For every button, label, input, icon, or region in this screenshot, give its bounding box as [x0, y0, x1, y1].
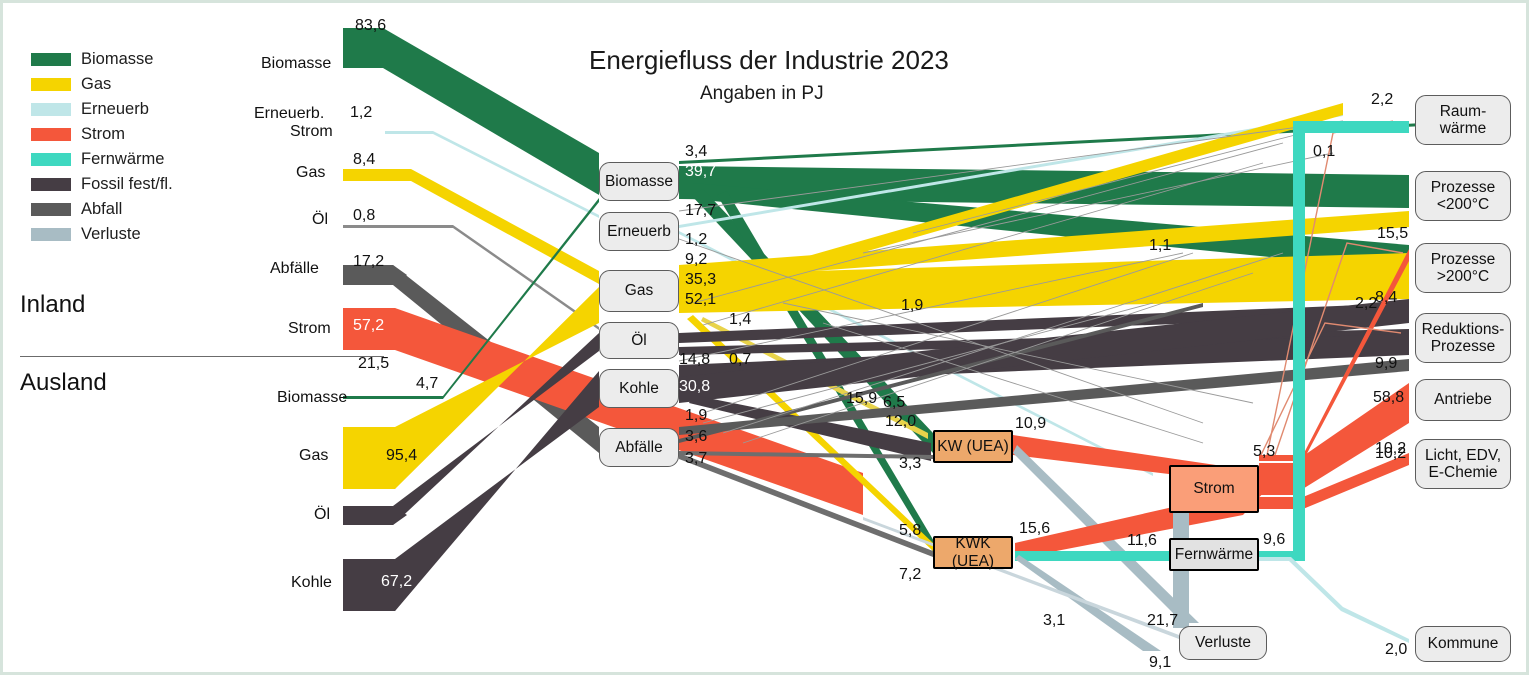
source-label-abfaelle: Abfälle	[270, 260, 319, 278]
legend-label-biomasse: Biomasse	[81, 50, 153, 69]
value-verluste-21-7: 21,7	[1147, 612, 1178, 630]
value-abfaelle-out-1: 1,9	[685, 407, 707, 425]
node-kwk-uea[interactable]: KWK (UEA)	[933, 536, 1013, 569]
chart-subtitle: Angaben in PJ	[700, 83, 824, 105]
legend-label-gas: Gas	[81, 75, 111, 94]
node-biomasse[interactable]: Biomasse	[599, 162, 679, 201]
value-licht-10-2: 10,2	[1375, 440, 1406, 458]
legend-item: Fernwärme	[31, 147, 173, 172]
value-verluste-3-1: 3,1	[1043, 612, 1065, 630]
value-biomasse-ausland: 4,7	[416, 375, 438, 393]
legend-label-strom: Strom	[81, 125, 125, 144]
value-kwk-out-15-6: 15,6	[1019, 520, 1050, 538]
node-prozesse-lt200[interactable]: Prozesse <200°C	[1415, 171, 1511, 221]
legend-item: Fossil fest/fl.	[31, 172, 173, 197]
value-abfaelle-out-2: 3,6	[685, 428, 707, 446]
flow-source-biomasse-inland-b	[383, 28, 599, 195]
source-label-strom-inland: Strom	[288, 320, 331, 338]
zone-divider	[20, 356, 384, 357]
flow-fernwaerme-kommune	[1259, 557, 1409, 643]
source-label-biomasse-inland: Biomasse	[261, 55, 331, 73]
value-oel-out-2: 0,7	[729, 351, 751, 369]
value-erneuerb-out-2: 1,2	[685, 231, 707, 249]
chart-title: Energiefluss der Industrie 2023	[589, 45, 949, 76]
value-prozesse-gt200-15-5: 15,5	[1377, 225, 1408, 243]
value-oel-out-1: 1,4	[729, 311, 751, 329]
value-abfaelle-out-3: 3,7	[685, 450, 707, 468]
node-fernwaerme[interactable]: Fernwärme	[1169, 538, 1259, 571]
value-reduktion-2-2: 2,2	[1355, 295, 1377, 313]
value-kw-in-3-3: 3,3	[899, 455, 921, 473]
zone-label-ausland: Ausland	[20, 369, 107, 397]
value-erneuerb-strom: 1,2	[350, 104, 372, 122]
legend-label-verluste: Verluste	[81, 225, 141, 244]
node-oel[interactable]: Öl	[599, 322, 679, 359]
source-label-erneuerb-strom: Strom	[290, 123, 333, 141]
legend-swatch-strom	[31, 128, 71, 141]
value-verluste-9-1: 9,1	[1149, 654, 1171, 672]
flow-kwk-fernwaerme	[1015, 551, 1171, 561]
value-raumwaerme-2-2: 2,2	[1371, 91, 1393, 109]
legend-label-erneuerb: Erneuerb	[81, 100, 149, 119]
source-label-biomasse-ausland: Biomasse	[277, 389, 347, 407]
legend-swatch-erneuerb	[31, 103, 71, 116]
node-licht-edv-echemie[interactable]: Licht, EDV, E-Chemie	[1415, 439, 1511, 489]
value-kw-in-12-0: 12,0	[885, 413, 916, 431]
value-kw-out-10-9: 10,9	[1015, 415, 1046, 433]
node-raumwaerme[interactable]: Raum- wärme	[1415, 95, 1511, 145]
value-oel-ausland: 21,5	[358, 355, 389, 373]
legend-item: Biomasse	[31, 47, 173, 72]
value-reduktion-8-4: 8,4	[1375, 289, 1397, 307]
legend-item: Strom	[31, 122, 173, 147]
legend-label-abfall: Abfall	[81, 200, 122, 219]
value-strom-inland: 57,2	[353, 317, 384, 335]
legend: Biomasse Gas Erneuerb Strom Fernwärme Fo…	[31, 47, 173, 247]
legend-swatch-fossil	[31, 178, 71, 191]
value-erneuerb-out-1: 17,7	[685, 202, 716, 220]
value-raumwaerme-0-1: 0,1	[1313, 143, 1335, 161]
node-gas[interactable]: Gas	[599, 270, 679, 312]
legend-swatch-gas	[31, 78, 71, 91]
value-kohle: 67,2	[381, 573, 412, 591]
source-label-oel-ausland: Öl	[314, 506, 330, 524]
value-gas-inland: 8,4	[353, 151, 375, 169]
legend-item: Erneuerb	[31, 97, 173, 122]
node-verluste[interactable]: Verluste	[1179, 626, 1267, 660]
legend-item: Verluste	[31, 222, 173, 247]
value-antriebe-9-9: 9,9	[1375, 355, 1397, 373]
value-abfaelle: 17,2	[353, 253, 384, 271]
node-abfaelle[interactable]: Abfälle	[599, 428, 679, 467]
legend-label-fernwaerme: Fernwärme	[81, 150, 164, 169]
value-gas-out-3: 52,1	[685, 291, 716, 309]
node-erneuerb[interactable]: Erneuerb	[599, 212, 679, 251]
node-prozesse-gt200[interactable]: Prozesse >200°C	[1415, 243, 1511, 293]
node-strom[interactable]: Strom	[1169, 465, 1259, 513]
value-mid-15-9: 15,9	[846, 390, 877, 408]
sankey-diagram-canvas: Biomasse Gas Erneuerb Strom Fernwärme Fo…	[0, 0, 1529, 675]
source-label-gas-ausland: Gas	[299, 447, 328, 465]
value-kw-in-6-5: 6,5	[883, 394, 905, 412]
value-gas-ausland: 95,4	[386, 447, 417, 465]
value-gas-out-2: 35,3	[685, 271, 716, 289]
value-oel-inland: 0,8	[353, 207, 375, 225]
value-mid-1-1: 1,1	[1149, 237, 1171, 255]
value-antriebe-58-8: 58,8	[1373, 389, 1404, 407]
value-fw-out-2-0: 2,0	[1385, 641, 1407, 659]
source-label-gas-inland: Gas	[296, 164, 325, 182]
legend-swatch-verluste	[31, 228, 71, 241]
legend-label-fossil: Fossil fest/fl.	[81, 175, 173, 194]
legend-swatch-abfall	[31, 203, 71, 216]
legend-item: Abfall	[31, 197, 173, 222]
value-mid-1-9: 1,9	[901, 297, 923, 315]
value-fw-out-9-6: 9,6	[1263, 531, 1285, 549]
source-label-erneuerb: Erneuerb.	[254, 105, 324, 123]
node-kw-uea[interactable]: KW (UEA)	[933, 430, 1013, 463]
node-antriebe[interactable]: Antriebe	[1415, 379, 1511, 421]
node-kohle[interactable]: Kohle	[599, 369, 679, 408]
node-reduktionsprozesse[interactable]: Reduktions- Prozesse	[1415, 313, 1511, 363]
value-kwk-out-11-6: 11,6	[1127, 532, 1157, 550]
value-kohle-out-2: 30,8	[679, 378, 710, 396]
legend-item: Gas	[31, 72, 173, 97]
value-strom-out-5-3: 5,3	[1253, 443, 1275, 461]
source-label-kohle: Kohle	[291, 574, 332, 592]
legend-swatch-biomasse	[31, 53, 71, 66]
node-kommune[interactable]: Kommune	[1415, 626, 1511, 662]
zone-label-inland: Inland	[20, 291, 85, 319]
value-kwk-in-7-2: 7,2	[899, 566, 921, 584]
value-biomasse-out-2: 39,7	[685, 163, 716, 181]
value-biomasse-out-1: 3,4	[685, 143, 707, 161]
value-kohle-out-1: 14,8	[679, 351, 710, 369]
source-label-oel-inland: Öl	[312, 211, 328, 229]
value-gas-out-1: 9,2	[685, 251, 707, 269]
value-biomasse-inland: 83,6	[355, 17, 386, 35]
value-kwk-in-5-8: 5,8	[899, 522, 921, 540]
legend-swatch-fernwaerme	[31, 153, 71, 166]
